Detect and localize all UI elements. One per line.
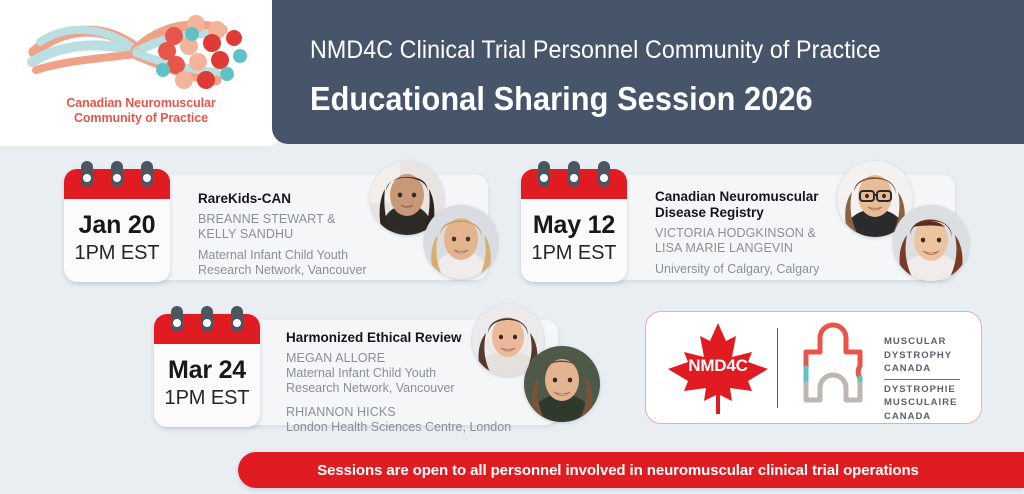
- avatar: [893, 205, 969, 281]
- logo-caption-line1: Canadian Neuromuscular: [0, 96, 282, 111]
- speaker-block: VICTORIA HODGKINSON & LISA MARIE LANGEVI…: [655, 226, 865, 277]
- speaker-affiliation: University of Calgary, Calgary: [655, 262, 865, 277]
- nmd4c-wordmark: NMD4C: [662, 356, 774, 376]
- info-banner-text: Sessions are open to all personnel invol…: [238, 452, 998, 488]
- session-date: Mar 24: [154, 356, 260, 385]
- calendar-ring-icon: [81, 161, 93, 187]
- calendar-ring-icon: [111, 161, 123, 187]
- session-time: 1PM EST: [521, 242, 627, 265]
- header-subtitle: NMD4C Clinical Trial Personnel Community…: [310, 36, 881, 65]
- mdc-puzzle-icon: [790, 322, 876, 416]
- calendar-icon: Mar 24 1PM EST: [154, 314, 260, 427]
- calendar-icon: Jan 20 1PM EST: [64, 169, 170, 282]
- calendar-icon: May 12 1PM EST: [521, 169, 627, 282]
- speaker-portraits: [368, 161, 508, 291]
- session-card[interactable]: Mar 24 1PM EST Harmonized Ethical Review…: [158, 320, 558, 425]
- header-title: Educational Sharing Session 2026: [310, 80, 813, 118]
- speaker-portraits: [835, 161, 975, 291]
- session-title: Canadian Neuromuscular Disease Registry: [655, 189, 865, 221]
- mdc-fr-line1: DYSTROPHIE: [884, 383, 960, 397]
- logo-caption: Canadian Neuromuscular Community of Prac…: [0, 96, 282, 126]
- calendar-ring-icon: [231, 306, 243, 332]
- info-banner: Sessions are open to all personnel invol…: [238, 452, 1024, 488]
- header-panel: NMD4C Clinical Trial Personnel Community…: [272, 0, 1024, 144]
- cnmcop-logo-icon: [24, 8, 258, 92]
- session-card[interactable]: May 12 1PM EST Canadian Neuromuscular Di…: [525, 175, 955, 280]
- session-card[interactable]: Jan 20 1PM EST RareKids-CAN BREANNE STEW…: [68, 175, 488, 280]
- session-date: Jan 20: [64, 211, 170, 240]
- calendar-ring-icon: [201, 306, 213, 332]
- calendar-ring-icon: [171, 306, 183, 332]
- calendar-ring-icon: [568, 161, 580, 187]
- calendar-ring-icon: [598, 161, 610, 187]
- cnmcop-logo-panel: Canadian Neuromuscular Community of Prac…: [0, 0, 282, 146]
- mdc-fr-line3: CANADA: [884, 410, 960, 424]
- mdc-en-line1: MUSCULAR: [884, 335, 960, 349]
- sponsor-divider: [777, 328, 778, 408]
- mdc-en-line2: DYSTROPHY: [884, 349, 960, 363]
- mdc-fr-line2: MUSCULAIRE: [884, 396, 960, 410]
- session-date: May 12: [521, 211, 627, 240]
- calendar-ring-icon: [538, 161, 550, 187]
- header-area: Canadian Neuromuscular Community of Prac…: [0, 0, 1024, 146]
- mdc-wordmark: MUSCULAR DYSTROPHY CANADA DYSTROPHIE MUS…: [884, 335, 960, 423]
- logo-caption-line2: Community of Practice: [0, 111, 282, 126]
- sponsor-panel: NMD4C MUSCULAR DYSTROPHY CANADA DYSTROPH…: [645, 311, 982, 424]
- avatar: [424, 205, 498, 279]
- speaker-portraits: [470, 304, 610, 439]
- session-time: 1PM EST: [64, 242, 170, 265]
- mdc-divider: [884, 379, 960, 380]
- avatar: [524, 346, 600, 422]
- mdc-en-line3: CANADA: [884, 362, 960, 376]
- session-time: 1PM EST: [154, 387, 260, 410]
- calendar-ring-icon: [141, 161, 153, 187]
- session-details: Canadian Neuromuscular Disease Registry …: [655, 189, 865, 277]
- speaker-names: VICTORIA HODGKINSON & LISA MARIE LANGEVI…: [655, 226, 865, 256]
